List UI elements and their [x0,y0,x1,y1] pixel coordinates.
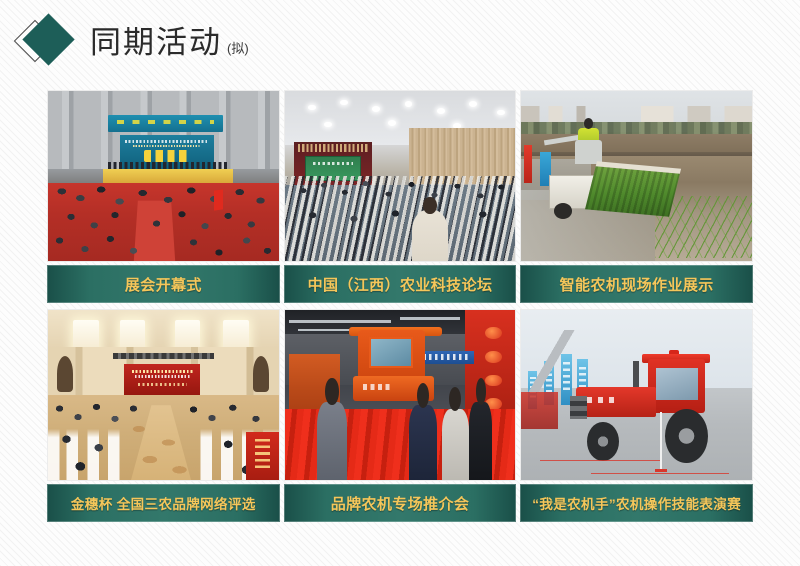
cab-window [369,337,413,368]
page-header: 同期活动 (拟) [0,0,800,84]
photo-operator-skill-contest[interactable] [520,309,753,481]
caption-bar[interactable]: 中国（江西）农业科技论坛 [284,265,517,303]
visitor [409,405,437,480]
rice-transplanter [549,142,669,220]
photo-golden-ear-cup-brand-vote[interactable] [47,309,280,481]
caption-bar[interactable]: “我是农机手”农机操作技能表演赛 [520,484,753,522]
machine-wheel [554,203,572,219]
background-machine [521,392,558,429]
lighting-truss [113,353,214,360]
stage-title-banner [298,144,367,153]
red-stage-backdrop [124,364,200,395]
course-marker-pole [660,412,663,470]
caption-bar[interactable]: 金穗杯 全国三农品牌网络评选 [47,484,280,522]
engine-hood [576,387,656,417]
red-banner-flag [524,145,532,182]
photo-opening-ceremony[interactable] [47,90,280,262]
caption-bar[interactable]: 品牌农机专场推介会 [284,484,517,522]
audience [48,395,279,480]
visitor [442,409,470,480]
seedling-tray [585,162,682,218]
rear-wheel [665,409,708,463]
cab [648,359,705,413]
cab-window [656,368,698,400]
cab [358,330,424,379]
red-vertical-banner [246,432,278,480]
gallery-item[interactable]: “我是农机手”农机操作技能表演赛 [520,309,753,522]
photo-agri-tech-forum[interactable] [284,90,517,262]
caption-bar[interactable]: 智能农机现场作业展示 [520,265,753,303]
lantern-icon [485,327,501,339]
page-title: 同期活动 [90,27,222,58]
activity-gallery-grid: 展会开幕式 [47,90,753,522]
foreground-attendee [412,210,449,261]
arched-doorway [57,356,73,392]
front-wheel [587,422,618,461]
gallery-item[interactable]: 金穗杯 全国三农品牌网络评选 [47,309,280,522]
photo-brand-machinery-promotion[interactable] [284,309,517,481]
page-title-group: 同期活动 (拟) [90,27,249,58]
audience [285,173,516,261]
caption-bar[interactable]: 展会开幕式 [47,265,280,303]
gallery-item[interactable]: 中国（江西）农业科技论坛 [284,90,517,303]
red-tractor [567,354,710,463]
lantern-icon [485,351,501,363]
gallery-item[interactable]: 智能农机现场作业展示 [520,90,753,303]
lantern-icon [485,375,501,387]
overhead-blue-banner [108,115,223,132]
front-grille [570,396,587,420]
visitor [469,402,492,480]
gallery-item[interactable]: 品牌农机专场推介会 [284,309,517,522]
page-background: 同期活动 (拟) [0,0,800,566]
diamond-logo-icon [18,13,76,71]
visitor [317,402,347,480]
crowd [48,176,279,261]
gallery-item[interactable]: 展会开幕式 [47,90,280,303]
arched-doorway [253,356,269,392]
red-flag [214,189,223,211]
photo-smart-machinery-field-demo[interactable] [520,90,753,262]
page-subtitle: (拟) [227,42,249,55]
